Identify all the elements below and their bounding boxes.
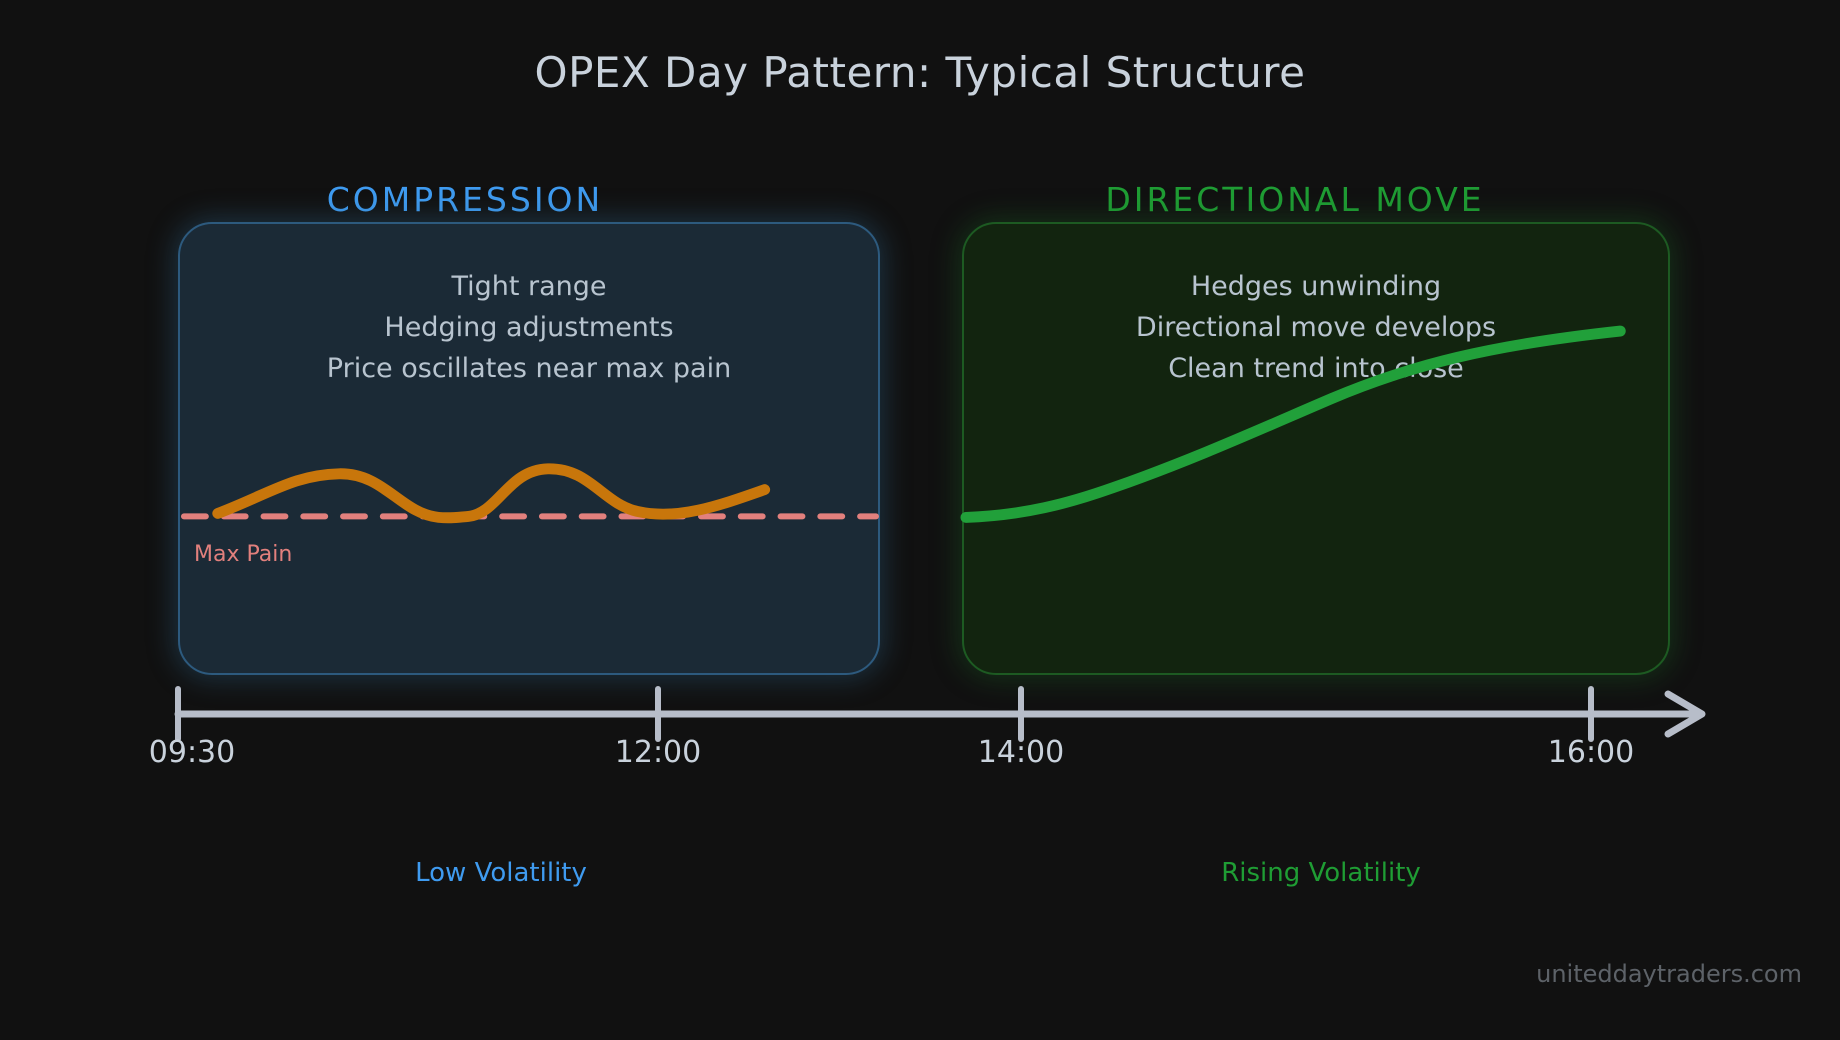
phase-heading-directional: DIRECTIONAL MOVE: [1055, 180, 1535, 219]
panel-directional: Hedges unwinding Directional move develo…: [962, 222, 1670, 675]
volatility-note-compression: Low Volatility: [321, 858, 681, 888]
panel-compression: Tight range Hedging adjustments Price os…: [178, 222, 880, 675]
tick-label-1600: 16:00: [1511, 735, 1671, 770]
max-pain-label: Max Pain: [194, 542, 292, 567]
trend-line: [966, 331, 1620, 517]
oscillation-line: [218, 469, 765, 518]
watermark: uniteddaytraders.com: [1536, 960, 1802, 988]
directional-chart: [964, 224, 1668, 673]
tick-label-1200: 12:00: [578, 735, 738, 770]
tick-label-0930: 09:30: [112, 735, 272, 770]
volatility-note-directional: Rising Volatility: [1141, 858, 1501, 888]
tick-label-1400: 14:00: [941, 735, 1101, 770]
diagram-canvas: OPEX Day Pattern: Typical Structure COMP…: [0, 0, 1840, 1040]
phase-heading-compression: COMPRESSION: [300, 180, 630, 219]
compression-chart: [180, 224, 878, 673]
page-title: OPEX Day Pattern: Typical Structure: [0, 48, 1840, 97]
